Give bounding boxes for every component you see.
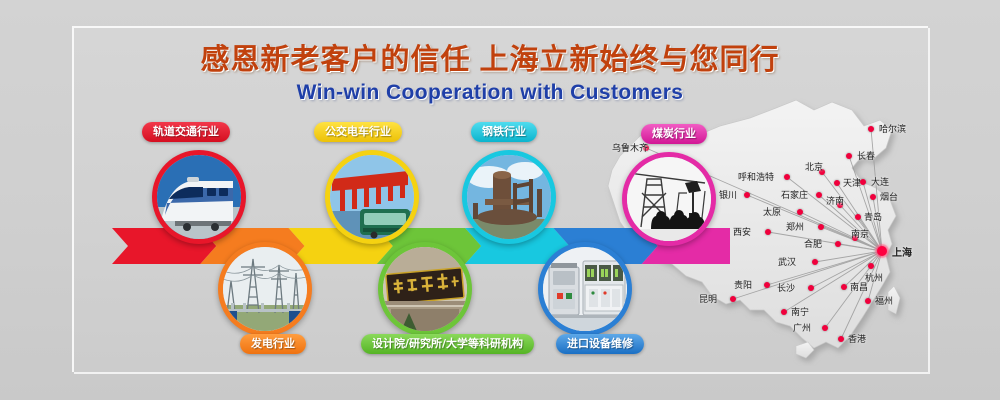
map-city-label: 南宁: [791, 305, 809, 318]
university-sign-icon: [383, 247, 467, 331]
map-city-dot: [855, 214, 861, 220]
map-city-label: 青岛: [864, 210, 882, 223]
bubble-steel[interactable]: [462, 150, 556, 244]
steel-mill-icon: [467, 155, 551, 239]
map-city-label: 西安: [733, 225, 751, 238]
map-city-label: 香港: [848, 332, 866, 345]
page-title-en: Win-win Cooperation with Customers: [150, 79, 830, 107]
map-city-dot: [846, 153, 852, 159]
label-steel[interactable]: 钢铁行业: [471, 122, 537, 142]
title-block: 感恩新老客户的信任 上海立新始终与您同行 Win-win Cooperation…: [150, 42, 830, 107]
map-city-label: 太原: [763, 205, 781, 218]
map-city-label: 乌鲁木齐: [612, 141, 648, 154]
map-city-dot: [764, 282, 770, 288]
map-city-label: 呼和浩特: [738, 170, 774, 183]
map-city-dot: [868, 126, 874, 132]
map-city-label: 南京: [851, 227, 869, 240]
page-title-cn: 感恩新老客户的信任 上海立新始终与您同行: [150, 42, 830, 78]
map-city-label: 银川: [719, 188, 737, 201]
label-bus[interactable]: 公交电车行业: [314, 122, 402, 142]
map-city-dot: [822, 325, 828, 331]
map-city-dot: [865, 298, 871, 304]
train-icon: [157, 155, 241, 239]
map-city-dot: [816, 192, 822, 198]
coal-mine-icon: [627, 157, 711, 241]
map-city-dot: [744, 192, 750, 198]
map-city-label: 济南: [826, 194, 844, 207]
bubble-rail[interactable]: [152, 150, 246, 244]
map-city-label: 石家庄: [781, 188, 808, 201]
map-city-label: 武汉: [778, 255, 796, 268]
map-city-dot: [797, 209, 803, 215]
map-city-label: 天津: [843, 176, 861, 189]
bubble-research[interactable]: [378, 242, 472, 336]
label-coal[interactable]: 煤炭行业: [641, 124, 707, 144]
map-city-dot: [808, 285, 814, 291]
label-rail[interactable]: 轨道交通行业: [142, 122, 230, 142]
map-hub-dot: [877, 246, 887, 256]
label-import-repair[interactable]: 进口设备维修: [556, 334, 644, 354]
map-city-label: 长沙: [777, 281, 795, 294]
map-city-label: 北京: [805, 160, 823, 173]
map-city-label: 广州: [793, 321, 811, 334]
label-research[interactable]: 设计院/研究所/大学等科研机构: [361, 334, 534, 354]
map-city-label: 昆明: [699, 292, 717, 305]
power-grid-icon: [223, 247, 307, 331]
map-city-dot: [812, 259, 818, 265]
map-city-dot: [818, 224, 824, 230]
switchgear-icon: [543, 247, 627, 331]
map-city-dot: [838, 336, 844, 342]
map-city-dot: [781, 309, 787, 315]
map-city-dot: [860, 179, 866, 185]
map-city-label: 福州: [875, 294, 893, 307]
map-city-label: 哈尔滨: [879, 122, 906, 135]
map-city-dot: [765, 229, 771, 235]
map-city-dot: [835, 241, 841, 247]
map-city-dot: [841, 284, 847, 290]
map-city-label: 南昌: [850, 280, 868, 293]
map-city-dot: [868, 263, 874, 269]
bubble-bus[interactable]: [325, 150, 419, 244]
map-city-label: 长春: [857, 149, 875, 162]
bus-icon: [330, 155, 414, 239]
map-city-label: 贵阳: [734, 278, 752, 291]
map-city-dot: [730, 296, 736, 302]
label-power[interactable]: 发电行业: [240, 334, 306, 354]
map-city-label: 大连: [871, 175, 889, 188]
map-city-dot: [834, 180, 840, 186]
map-city-label: 上海: [892, 244, 912, 259]
map-city-label: 烟台: [880, 190, 898, 203]
map-city-label: 合肥: [804, 237, 822, 250]
banner-root: 哈尔滨长春乌鲁木齐呼和浩特北京天津大连银川石家庄济南烟台太原青岛西安郑州合肥南京…: [0, 0, 1000, 400]
map-city-dot: [870, 194, 876, 200]
bubble-power[interactable]: [218, 242, 312, 336]
bubble-coal[interactable]: [622, 152, 716, 246]
bubble-import-repair[interactable]: [538, 242, 632, 336]
map-city-dot: [784, 174, 790, 180]
map-city-label: 郑州: [786, 220, 804, 233]
